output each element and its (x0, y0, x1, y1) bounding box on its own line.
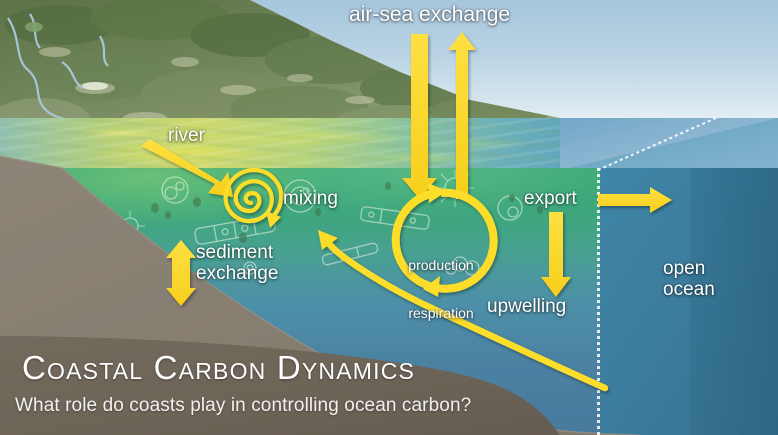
page-title: Coastal Carbon Dynamics (22, 349, 415, 387)
coastal-carbon-dynamics-figure: air-sea exchange river mixing sediment e… (0, 0, 778, 435)
page-subtitle: What role do coasts play in controlling … (15, 395, 471, 417)
